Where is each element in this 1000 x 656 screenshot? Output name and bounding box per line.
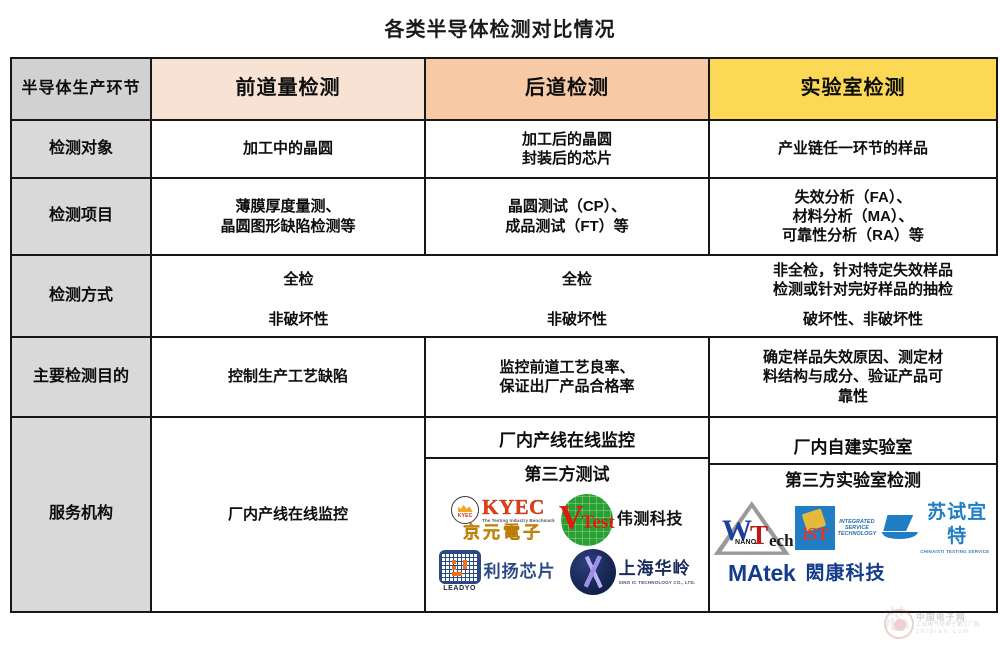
kyec-brand-cn: 京元電子 — [463, 524, 543, 543]
logo-row: W T ech NANO iST INTEGRATED SERVICE TECH… — [712, 500, 994, 556]
inner-table-back-end-method: 全检 非破坏性 — [435, 256, 719, 336]
crown-icon — [458, 504, 473, 512]
cell-lab-test-items: 失效分析（FA）、 材料分析（MA）、 可靠性分析（RA）等 — [709, 178, 997, 255]
kyec-seal-icon: KYEC — [451, 496, 479, 524]
logo-vtest: V Test 伟测科技 — [561, 494, 683, 546]
table-row: 检测对象 加工中的晶圆 加工后的晶圆 封装后的芯片 产业链任一环节的样品 — [11, 120, 997, 178]
cell-back-end-method-nondestructive: 非破坏性 — [435, 304, 719, 336]
row-label-test-items: 检测项目 — [11, 178, 151, 255]
logo-sinoic: 上海华岭 SINO IC TECHNOLOGY CO., LTD. — [570, 549, 696, 595]
cell-front-end-method-full: 全检 — [162, 256, 435, 304]
kyec-brand-en: KYEC — [482, 497, 545, 518]
cell-back-end-test-method: 全检 非破坏性 — [425, 255, 709, 337]
ist-mark-icon: iST — [795, 506, 835, 550]
watermark-text: 中国电子网 工业电气化电子第工厂网 zhidian.com — [916, 612, 980, 637]
lab-band-internal: 厂内自建实验室 — [710, 432, 996, 466]
cell-front-end-test-method: 全检 非破坏性 — [151, 255, 425, 337]
table-row: 检测项目 薄膜厚度量测、 晶圆图形缺陷检测等 晶圆测试（CP）、 成品测试（FT… — [11, 178, 997, 255]
watermark-line-url: zhidian.com — [916, 629, 980, 637]
logo-chinaist: 苏试宜特 CHINAISTI TESTING SERVICE — [880, 501, 994, 555]
vtest-wordmark: V Test — [559, 504, 615, 535]
inner-table-front-end-method: 全检 非破坏性 — [162, 256, 435, 336]
back-end-band-third-party: 第三方测试 — [426, 459, 708, 487]
cell-back-end-test-object: 加工后的晶圆 封装后的芯片 — [425, 120, 709, 178]
logo-leadyo: LEADYO 利扬芯片 — [439, 550, 556, 594]
sinoic-globe-icon — [570, 549, 616, 595]
wtech-brand-rest: ech — [769, 532, 794, 549]
cell-front-end-method-nondestructive: 非破坏性 — [162, 304, 435, 336]
table-header-row: 半导体生产环节 前道量检测 后道检测 实验室检测 — [11, 58, 997, 120]
cell-front-end-test-items: 薄膜厚度量测、 晶圆图形缺陷检测等 — [151, 178, 425, 255]
row-label-test-object: 检测对象 — [11, 120, 151, 178]
ist-brand-en: iST — [803, 523, 829, 546]
lab-logo-group: W T ech NANO iST INTEGRATED SERVICE TECH… — [710, 493, 996, 597]
back-end-logo-group: KYEC KYEC The Testing Industry Benchmark… — [426, 487, 708, 604]
vtest-brand-cn: 伟测科技 — [617, 510, 683, 530]
logo-row: MAtek 閎康科技 — [712, 559, 994, 588]
table-row: 全检 — [162, 256, 435, 304]
lab-band-third-party: 第三方实验室检测 — [710, 465, 996, 493]
back-end-band-internal: 厂内产线在线监控 — [426, 425, 708, 459]
cell-lab-service: 厂内自建实验室 第三方实验室检测 W T ech NANO iST — [709, 417, 997, 612]
cell-lab-method-sampling: 非全检，针对特定失效样品 检测或针对完好样品的抽检 — [719, 256, 1000, 304]
cell-back-end-test-items: 晶圆测试（CP）、 成品测试（FT）等 — [425, 178, 709, 255]
watermark-logo-icon — [884, 609, 914, 639]
chinaist-mark-icon — [880, 511, 917, 545]
vtest-brand-rest: Test — [582, 511, 615, 535]
wafer-icon — [439, 550, 481, 584]
chinaist-wordmark: 苏试宜特 CHINAISTI TESTING SERVICE — [920, 501, 994, 555]
table-row-service-organizations: 服务机构 厂内产线在线监控 厂内产线在线监控 第三方测试 KYEC KYEC — [11, 417, 997, 612]
leadyo-brand-en: LEADYO — [443, 585, 476, 594]
sinoic-brand-cn: 上海华岭 — [619, 558, 691, 580]
ist-tagline-line3: TECHNOLOGY — [837, 531, 876, 537]
logo-row: LEADYO 利扬芯片 上海华岭 SINO IC TECHNOLOGY CO.,… — [428, 549, 706, 595]
kyec-wordmark: KYEC The Testing Industry Benchmark — [482, 497, 555, 524]
table-row: 破坏性、非破坏性 — [719, 304, 1000, 336]
header-label-cell: 半导体生产环节 — [11, 58, 151, 120]
header-front-end-cell: 前道量检测 — [151, 58, 425, 120]
matek-brand-cn: 閎康科技 — [806, 562, 886, 586]
watermark-line-sub: 工业电气化电子第工厂网 — [916, 622, 980, 629]
chinaist-brand-cn: 苏试宜特 — [920, 501, 994, 550]
vtest-brand-lead: V — [559, 504, 584, 531]
cell-front-end-main-purpose: 控制生产工艺缺陷 — [151, 337, 425, 417]
cell-lab-test-method: 非全检，针对特定失效样品 检测或针对完好样品的抽检 破坏性、非破坏性 — [709, 255, 997, 337]
row-label-test-method: 检测方式 — [11, 255, 151, 337]
leadyo-mark: LEADYO — [439, 550, 481, 594]
row-label-main-purpose: 主要检测目的 — [11, 337, 151, 417]
table-row: 检测方式 全检 非破坏性 全检 非破坏性 — [11, 255, 997, 337]
matek-brand-en: MAtek — [728, 559, 796, 588]
row-label-service-organizations: 服务机构 — [11, 417, 151, 612]
cell-front-end-test-object: 加工中的晶圆 — [151, 120, 425, 178]
table-row: 非破坏性 — [435, 304, 719, 336]
cell-front-end-service: 厂内产线在线监控 — [151, 417, 425, 612]
cell-back-end-main-purpose: 监控前道工艺良率、 保证出厂产品合格率 — [425, 337, 709, 417]
table-row: 主要检测目的 控制生产工艺缺陷 监控前道工艺良率、 保证出厂产品合格率 确定样品… — [11, 337, 997, 417]
logo-wtech: W T ech NANO — [712, 500, 791, 556]
leadyo-brand-cn: 利扬芯片 — [484, 561, 556, 583]
cell-lab-main-purpose: 确定样品失效原因、测定材 料结构与成分、验证产品可 靠性 — [709, 337, 997, 417]
header-lab-cell: 实验室检测 — [709, 58, 997, 120]
cell-back-end-service: 厂内产线在线监控 第三方测试 KYEC KYEC The Testing Ind… — [425, 417, 709, 612]
sinoic-wordmark: 上海华岭 SINO IC TECHNOLOGY CO., LTD. — [619, 558, 696, 586]
cell-lab-test-object: 产业链任一环节的样品 — [709, 120, 997, 178]
kyec-seal-text: KYEC — [458, 513, 473, 519]
table-row: 全检 — [435, 256, 719, 304]
wtech-brand-sub: NANO — [735, 539, 756, 548]
watermark-line-cn: 中国电子网 — [916, 612, 980, 623]
logo-kyec: KYEC KYEC The Testing Industry Benchmark… — [451, 496, 555, 543]
sinoic-brand-en: SINO IC TECHNOLOGY CO., LTD. — [619, 580, 696, 586]
cell-lab-method-destructive: 破坏性、非破坏性 — [719, 304, 1000, 336]
table-row: 非全检，针对特定失效样品 检测或针对完好样品的抽检 — [719, 256, 1000, 304]
table-row: 非破坏性 — [162, 304, 435, 336]
logo-row: KYEC KYEC The Testing Industry Benchmark… — [428, 494, 706, 546]
vtest-globe-icon: V Test — [561, 494, 613, 546]
inner-table-lab-method: 非全检，针对特定失效样品 检测或针对完好样品的抽检 破坏性、非破坏性 — [719, 256, 1000, 336]
header-back-end-cell: 后道检测 — [425, 58, 709, 120]
chinaist-brand-en: CHINAISTI TESTING SERVICE — [920, 549, 989, 555]
semiconductor-testing-comparison-table: 半导体生产环节 前道量检测 后道检测 实验室检测 检测对象 加工中的晶圆 加工后… — [10, 57, 998, 613]
ist-tagline: INTEGRATED SERVICE TECHNOLOGY — [837, 519, 876, 538]
kyec-top: KYEC KYEC The Testing Industry Benchmark — [451, 496, 555, 524]
cell-back-end-method-full: 全检 — [435, 256, 719, 304]
logo-ist: iST INTEGRATED SERVICE TECHNOLOGY — [795, 506, 876, 550]
page-title: 各类半导体检测对比情况 — [0, 0, 1000, 57]
